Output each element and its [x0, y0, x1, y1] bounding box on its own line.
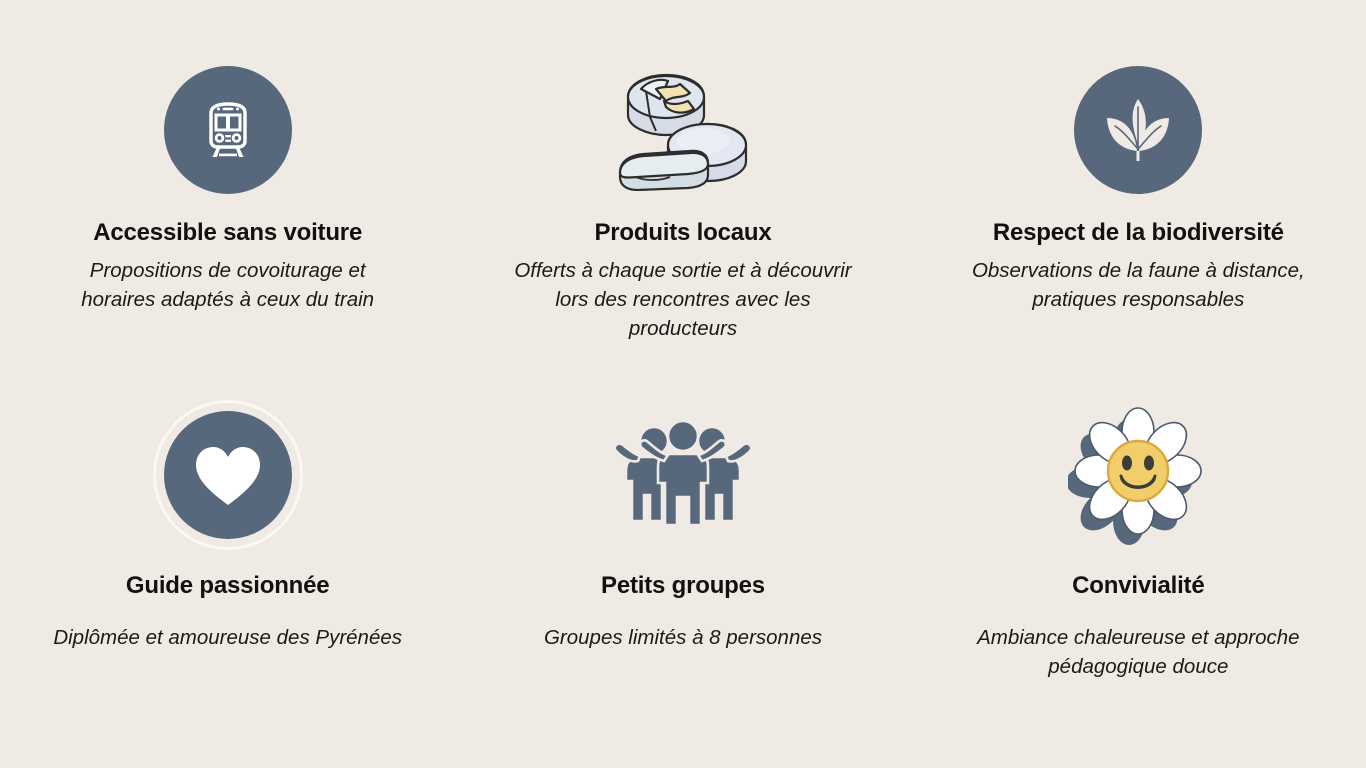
feature-card-respect-biodiversite: Respect de la biodiversité Observations … — [911, 60, 1366, 405]
feature-description: Ambiance chaleureuse et approche pédagog… — [963, 623, 1313, 681]
leaf-plant-icon — [1074, 66, 1202, 194]
feature-description: Propositions de covoiturage et horaires … — [53, 256, 403, 314]
feature-description: Offerts à chaque sortie et à découvrir l… — [500, 256, 866, 343]
icon-slot — [164, 405, 292, 545]
icon-slot — [1068, 405, 1208, 545]
feature-title: Guide passionnée — [126, 571, 330, 601]
icon-slot — [1074, 60, 1202, 200]
feature-description: Diplômée et amoureuse des Pyrénées — [53, 623, 402, 652]
features-grid: Accessible sans voiture Propositions de … — [0, 0, 1366, 768]
icon-slot — [608, 405, 758, 545]
feature-card-guide-passionnee: Guide passionnée Diplômée et amoureuse d… — [0, 405, 455, 705]
feature-title: Respect de la biodiversité — [993, 218, 1284, 248]
feature-card-produits-locaux: Produits locaux Offerts à chaque sortie … — [455, 60, 910, 405]
feature-card-petits-groupes: Petits groupes Groupes limités à 8 perso… — [455, 405, 910, 705]
smiley-flower-icon — [1068, 405, 1208, 545]
icon-slot — [164, 60, 292, 200]
feature-title: Produits locaux — [594, 218, 771, 248]
feature-description: Groupes limités à 8 personnes — [544, 623, 822, 652]
feature-title: Convivialité — [1072, 571, 1204, 601]
feature-title: Petits groupes — [601, 571, 765, 601]
icon-slot — [608, 60, 758, 200]
cheese-icon — [608, 66, 758, 194]
feature-description: Observations de la faune à distance, pra… — [963, 256, 1313, 314]
train-icon — [164, 66, 292, 194]
feature-card-accessible-sans-voiture: Accessible sans voiture Propositions de … — [0, 60, 455, 405]
feature-card-convivialite: Convivialité Ambiance chaleureuse et app… — [911, 405, 1366, 705]
heart-icon — [164, 411, 292, 539]
people-group-icon — [608, 415, 758, 535]
feature-title: Accessible sans voiture — [93, 218, 362, 248]
